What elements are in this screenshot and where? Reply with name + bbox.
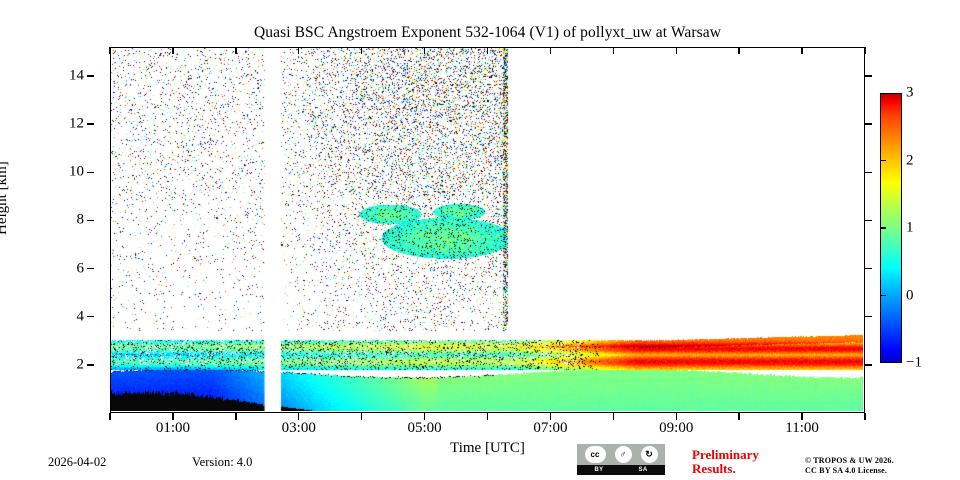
x-axis-tick bbox=[801, 413, 802, 420]
y-axis-tick bbox=[87, 75, 94, 76]
x-axis-tick bbox=[298, 413, 299, 420]
colorbar-tick-label: 2 bbox=[906, 153, 914, 168]
x-axis-tick bbox=[172, 47, 173, 54]
x-axis-tick bbox=[424, 413, 425, 420]
y-axis-tick bbox=[865, 364, 872, 365]
y-axis-tick bbox=[87, 316, 94, 317]
footer-date: 2026-04-02 bbox=[48, 455, 106, 470]
y-axis-tick bbox=[865, 268, 872, 269]
y-axis-tick bbox=[865, 123, 872, 124]
y-axis-tick bbox=[865, 316, 872, 317]
x-axis-tick-label: 01:00 bbox=[156, 421, 190, 436]
y-axis-tick-label: 2 bbox=[44, 357, 84, 372]
x-axis-tick bbox=[738, 413, 739, 420]
colorbar-tick-label: 1 bbox=[906, 221, 914, 236]
x-axis-tick bbox=[487, 413, 488, 420]
x-axis-tick bbox=[298, 47, 299, 54]
x-axis-tick bbox=[613, 47, 614, 54]
y-axis-tick-label: 12 bbox=[44, 117, 84, 132]
preliminary-results-note: Preliminary Results. bbox=[692, 448, 759, 476]
cc-by-label: BY bbox=[595, 467, 604, 473]
y-axis-tick bbox=[87, 123, 94, 124]
page-title: Quasi BSC Angstroem Exponent 532-1064 (V… bbox=[110, 24, 865, 42]
preliminary-line-2: Results. bbox=[692, 462, 759, 476]
x-axis-tick bbox=[361, 413, 362, 420]
colorbar-tick bbox=[880, 160, 886, 161]
x-axis-tick-label: 03:00 bbox=[282, 421, 316, 436]
preliminary-line-1: Preliminary bbox=[692, 448, 759, 462]
colorbar-tick-label: 0 bbox=[906, 288, 914, 303]
cc-by-person-icon: ♂ bbox=[615, 446, 632, 463]
x-axis-tick bbox=[109, 413, 110, 420]
colorbar-tick bbox=[880, 295, 886, 296]
x-axis-tick bbox=[550, 47, 551, 54]
y-axis-tick-label: 8 bbox=[44, 213, 84, 228]
y-axis-title: Height [km] bbox=[0, 161, 11, 235]
x-axis-tick bbox=[864, 413, 865, 420]
x-axis-tick bbox=[738, 47, 739, 54]
y-axis-tick bbox=[87, 172, 94, 173]
x-axis-tick-label: 09:00 bbox=[659, 421, 693, 436]
copyright-line-1: © TROPOS & UW 2026. bbox=[805, 456, 894, 466]
y-axis-tick bbox=[87, 364, 94, 365]
x-axis-tick bbox=[801, 47, 802, 54]
x-axis-tick bbox=[172, 413, 173, 420]
colorbar-tick bbox=[880, 227, 886, 228]
x-axis-tick bbox=[676, 47, 677, 54]
y-axis-tick bbox=[865, 220, 872, 221]
x-axis-tick-label: 11:00 bbox=[785, 421, 819, 436]
copyright-note: © TROPOS & UW 2026. CC BY SA 4.0 License… bbox=[805, 456, 894, 476]
colorbar-tick-label: −1 bbox=[906, 356, 922, 371]
figure-root: Quasi BSC Angstroem Exponent 532-1064 (V… bbox=[0, 0, 960, 480]
y-axis-tick-label: 6 bbox=[44, 261, 84, 276]
cc-sa-label: SA bbox=[639, 467, 648, 473]
x-axis-tick bbox=[550, 413, 551, 420]
x-axis-tick bbox=[109, 47, 110, 54]
y-axis-tick bbox=[865, 172, 872, 173]
heatmap-canvas bbox=[111, 48, 863, 411]
cc-icon: cc bbox=[585, 446, 606, 463]
y-axis-tick-label: 10 bbox=[44, 165, 84, 180]
x-axis-tick-label: 07:00 bbox=[533, 421, 567, 436]
plot-axes-frame bbox=[110, 47, 865, 413]
x-axis-tick bbox=[235, 47, 236, 54]
colorbar-tick-label: 3 bbox=[906, 86, 914, 101]
y-axis-tick-label: 14 bbox=[44, 68, 84, 83]
x-axis-tick-label: 05:00 bbox=[407, 421, 441, 436]
cc-license-badge[interactable]: cc ♂ ↻ BY SA bbox=[577, 444, 665, 475]
x-axis-tick bbox=[676, 413, 677, 420]
copyright-line-2: CC BY SA 4.0 License. bbox=[805, 466, 894, 476]
x-axis-tick bbox=[613, 413, 614, 420]
x-axis-tick bbox=[487, 47, 488, 54]
x-axis-tick bbox=[361, 47, 362, 54]
y-axis-tick bbox=[87, 268, 94, 269]
footer-version: Version: 4.0 bbox=[192, 455, 252, 470]
y-axis-tick bbox=[87, 220, 94, 221]
cc-sa-sharealike-icon: ↻ bbox=[641, 446, 658, 463]
x-axis-tick bbox=[864, 47, 865, 54]
y-axis-tick-label: 4 bbox=[44, 309, 84, 324]
y-axis-tick bbox=[865, 75, 872, 76]
x-axis-tick bbox=[424, 47, 425, 54]
x-axis-tick bbox=[235, 413, 236, 420]
